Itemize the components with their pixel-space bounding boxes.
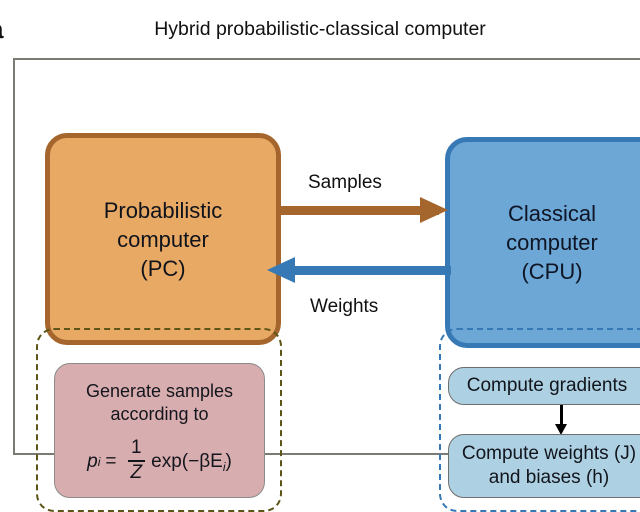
weights-arrow-label: Weights bbox=[310, 296, 378, 318]
boltzmann-distribution-formula: pi = 1 Z exp(−βEi) bbox=[87, 439, 232, 484]
formula-lhs-subscript: i bbox=[98, 455, 101, 469]
formula-rhs-text: exp(−βE bbox=[151, 451, 223, 472]
compute-weights-label: Compute weights (J) and biases (h) bbox=[476, 442, 640, 490]
compute-gradients-label: Compute gradients bbox=[467, 375, 628, 397]
formula-numerator: 1 bbox=[128, 438, 145, 460]
pc-label-line-3: (PC) bbox=[104, 254, 223, 283]
figure-frame: Probabilistic computer (PC) Classical co… bbox=[13, 58, 640, 455]
probabilistic-computer-block: Probabilistic computer (PC) bbox=[45, 133, 281, 345]
samples-arrow-shaft bbox=[277, 206, 439, 215]
cpu-label-line-3: (CPU) bbox=[506, 257, 598, 286]
formula-lhs-var: p bbox=[87, 451, 98, 473]
generate-samples-text: Generate samples according to bbox=[86, 380, 233, 426]
formula-equals: = bbox=[105, 451, 116, 473]
compute-weights-line-2: and biases (h) bbox=[462, 466, 636, 490]
compute-gradients-task-box: Compute gradients bbox=[448, 367, 640, 405]
formula-denominator: Z bbox=[128, 462, 146, 484]
samples-arrow-label: Samples bbox=[308, 172, 382, 194]
pc-label-line-1: Probabilistic bbox=[104, 196, 223, 225]
generate-samples-line-2: according to bbox=[86, 403, 233, 426]
formula-rhs: exp(−βEi) bbox=[151, 451, 232, 474]
weights-arrow-head-icon bbox=[267, 257, 295, 283]
gradients-to-weights-arrow-shaft bbox=[560, 405, 563, 426]
compute-weights-line-1: Compute weights (J) bbox=[462, 442, 636, 466]
samples-arrow-head-icon bbox=[420, 197, 448, 223]
formula-rhs-close: ) bbox=[226, 451, 232, 472]
classical-computer-label: Classical computer (CPU) bbox=[524, 199, 616, 286]
generate-samples-task-box: Generate samples according to pi = 1 Z e… bbox=[54, 363, 265, 498]
cpu-label-line-1: Classical bbox=[506, 199, 598, 228]
classical-computer-block: Classical computer (CPU) bbox=[445, 137, 640, 348]
pc-label-line-2: computer bbox=[104, 225, 223, 254]
cpu-label-line-2: computer bbox=[506, 228, 598, 257]
probabilistic-computer-label: Probabilistic computer (PC) bbox=[104, 196, 223, 283]
compute-weights-task-box: Compute weights (J) and biases (h) bbox=[448, 434, 640, 498]
weights-arrow-shaft bbox=[281, 266, 451, 275]
formula-fraction: 1 Z bbox=[128, 438, 146, 483]
generate-samples-line-1: Generate samples bbox=[86, 380, 233, 403]
figure-title: Hybrid probabilistic-classical computer bbox=[0, 18, 640, 40]
